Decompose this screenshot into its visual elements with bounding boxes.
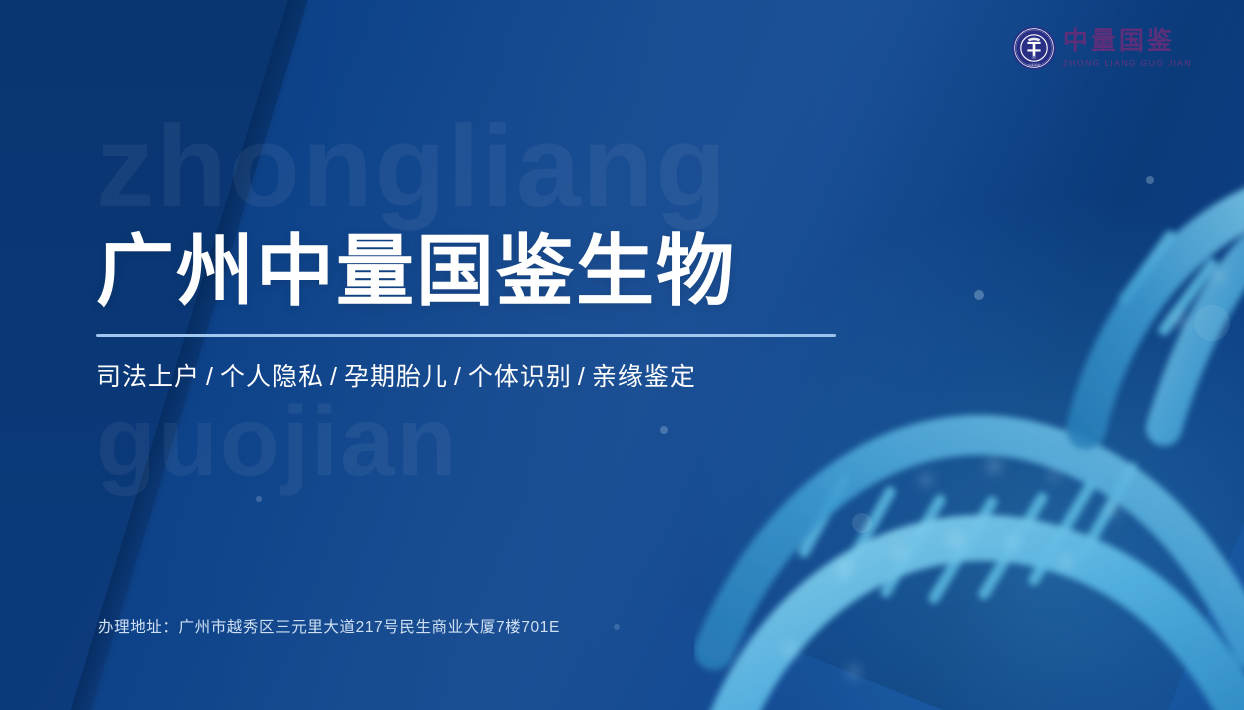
service-separator: / — [200, 363, 220, 391]
service-item: 司法上户 — [96, 363, 200, 391]
page-title: 广州中量国鉴生物 — [96, 232, 936, 312]
office-address: 办理地址：广州市越秀区三元里大道217号民生商业大厦7楼701E — [98, 615, 560, 637]
watermark-guojian: guojian — [96, 392, 458, 490]
service-separator: / — [324, 363, 344, 391]
service-separator: / — [572, 363, 592, 391]
service-list: 司法上户/个人隐私/孕期胎儿/个体识别/亲缘鉴定 — [96, 357, 936, 393]
title-divider — [96, 334, 836, 337]
brand-wordmark: 中量国鉴 ZHONG LIANG GUO JIAN — [1063, 29, 1192, 68]
circular-badge-icon: JC · 中 量 国 鉴 · — [1012, 26, 1056, 70]
brand-name-cn: 中量国鉴 — [1063, 29, 1192, 54]
svg-text:JC: JC — [1032, 55, 1037, 60]
service-separator: / — [448, 363, 468, 391]
banner-slide: zhongliang guojian 广州中量国鉴生物 司法上户/个人隐私/孕期… — [0, 0, 1244, 710]
watermark-zhongliang: zhongliang — [96, 108, 728, 224]
service-item: 孕期胎儿 — [344, 363, 448, 391]
brand-name-en: ZHONG LIANG GUO JIAN — [1063, 59, 1192, 68]
service-item: 个体识别 — [468, 363, 572, 391]
brand-logo[interactable]: JC · 中 量 国 鉴 · 中量国鉴 ZHONG LIANG GUO JIAN — [1012, 26, 1192, 70]
headline-block: 广州中量国鉴生物 司法上户/个人隐私/孕期胎儿/个体识别/亲缘鉴定 — [96, 232, 936, 393]
service-item: 个人隐私 — [220, 363, 324, 391]
svg-text:· 中 量 国 鉴 ·: · 中 量 国 鉴 · — [1027, 63, 1042, 67]
service-item: 亲缘鉴定 — [592, 363, 696, 391]
